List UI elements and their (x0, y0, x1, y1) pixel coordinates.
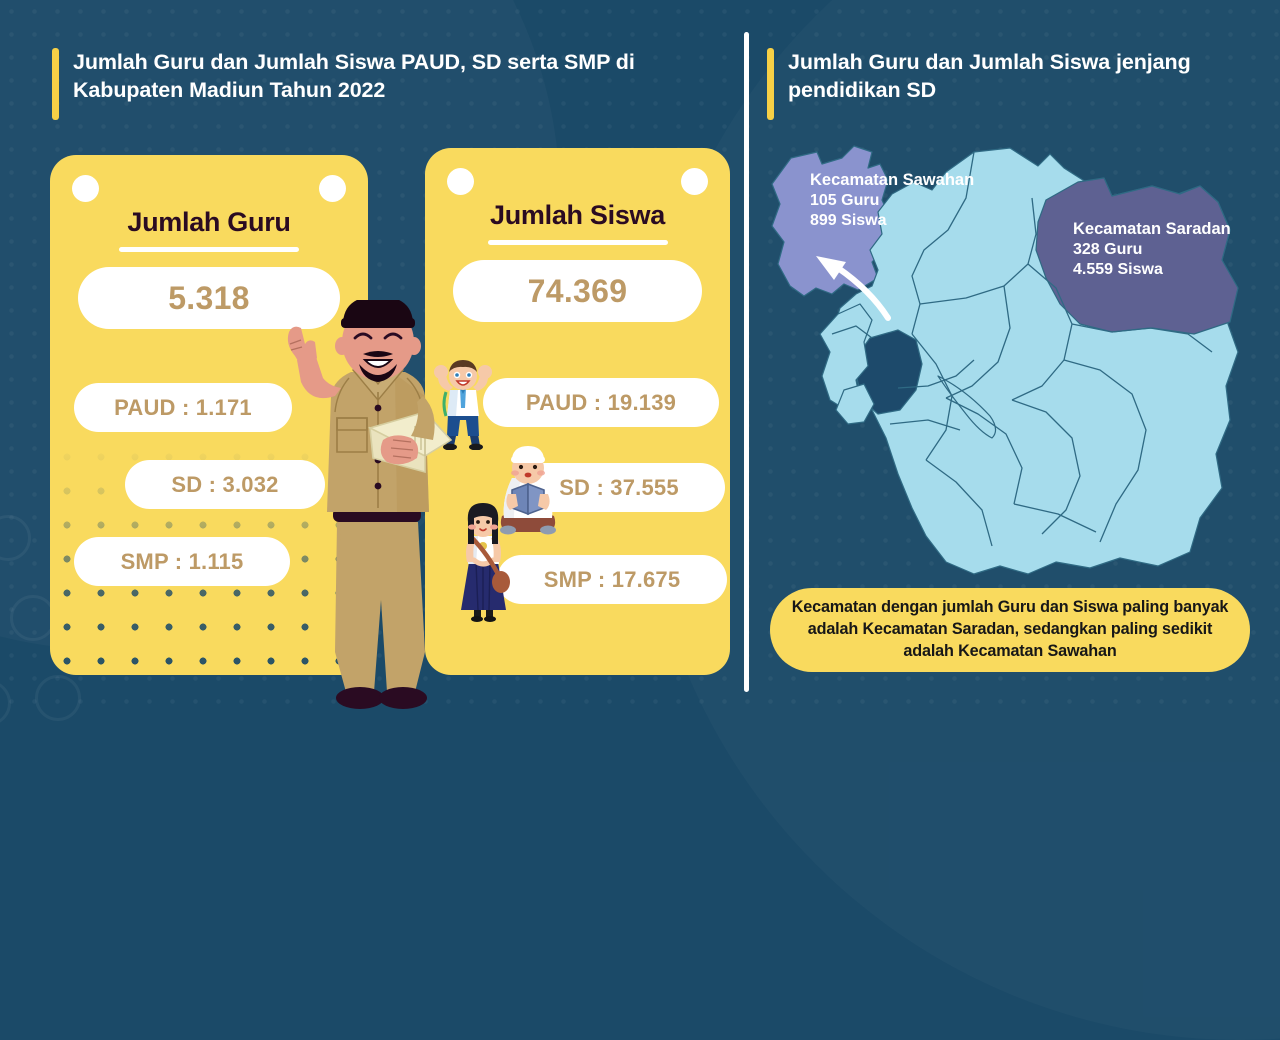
map-label-teachers: 105 Guru (810, 191, 974, 211)
stat-pill-label: SMP : 1.115 (121, 549, 244, 575)
map-label-saradan: Kecamatan Saradan 328 Guru 4.559 Siswa (1073, 219, 1231, 281)
punch-hole-left-icon (72, 175, 99, 202)
stat-pill-label: SD : 37.555 (559, 475, 679, 501)
card-underline (119, 247, 299, 252)
stat-pill-label: SD : 3.032 (171, 472, 278, 498)
map-label-teachers: 328 Guru (1073, 240, 1231, 260)
punch-hole-right-icon (681, 168, 708, 195)
total-pill-siswa: 74.369 (453, 260, 702, 322)
punch-hole-left-icon (447, 168, 474, 195)
card-heading-guru: Jumlah Guru (50, 207, 368, 238)
map-caption-box: Kecamatan dengan jumlah Guru dan Siswa p… (770, 588, 1250, 672)
map-label-sawahan: Kecamatan Sawahan 105 Guru 899 Siswa (810, 170, 974, 232)
total-value-guru: 5.318 (168, 280, 250, 317)
stat-pill-siswa-smp: SMP : 17.675 (497, 555, 727, 604)
stat-pill-guru-paud: PAUD : 1.171 (74, 383, 292, 432)
panel-divider (744, 32, 749, 692)
right-panel-title: Jumlah Guru dan Jumlah Siswa jenjang pen… (767, 48, 1237, 120)
stat-pill-label: SMP : 17.675 (544, 567, 681, 593)
punch-hole-right-icon (319, 175, 346, 202)
card-underline (488, 240, 668, 245)
map-label-name: Kecamatan Sawahan (810, 170, 974, 191)
stat-pill-siswa-paud: PAUD : 19.139 (483, 378, 719, 427)
card-heading-siswa: Jumlah Siswa (425, 200, 730, 231)
map-label-name: Kecamatan Saradan (1073, 219, 1231, 240)
left-panel-title: Jumlah Guru dan Jumlah Siswa PAUD, SD se… (52, 48, 712, 120)
map-label-students: 4.559 Siswa (1073, 260, 1231, 280)
stat-pill-label: PAUD : 1.171 (114, 395, 252, 421)
title-accent-bar (767, 48, 774, 120)
stat-pill-label: PAUD : 19.139 (526, 390, 676, 416)
total-value-siswa: 74.369 (528, 273, 628, 310)
stat-pill-guru-smp: SMP : 1.115 (74, 537, 290, 586)
map-label-students: 899 Siswa (810, 211, 974, 231)
right-title-text: Jumlah Guru dan Jumlah Siswa jenjang pen… (788, 48, 1237, 120)
title-accent-bar (52, 48, 59, 120)
teacher-illustration-icon (275, 300, 480, 720)
left-title-text: Jumlah Guru dan Jumlah Siswa PAUD, SD se… (73, 48, 712, 120)
map-caption-text: Kecamatan dengan jumlah Guru dan Siswa p… (788, 597, 1232, 662)
